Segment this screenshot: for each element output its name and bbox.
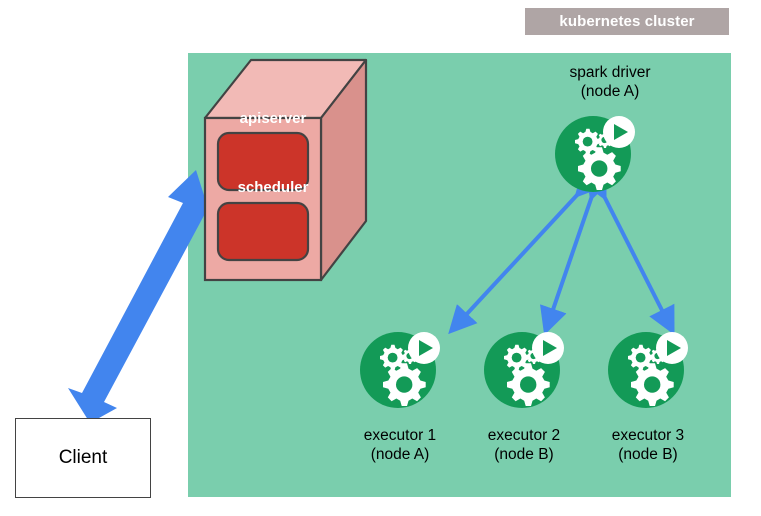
play-button-icon (532, 332, 564, 364)
gears-play-icon (482, 326, 566, 410)
executor-1-node[interactable] (358, 326, 442, 410)
control-plane-cube: apiserver scheduler (203, 58, 368, 283)
executor-3-node[interactable] (606, 326, 690, 410)
diagram-canvas: kubernetes cluster spark-submit (0, 0, 761, 516)
executor-2-node[interactable] (482, 326, 566, 410)
play-button-icon (603, 116, 635, 148)
scheduler-box (218, 203, 308, 260)
spark-driver-label: spark driver (node A) (520, 63, 700, 101)
apiserver-label: apiserver (213, 110, 333, 127)
spark-driver-node[interactable] (553, 110, 637, 194)
play-button-icon (408, 332, 440, 364)
gears-play-icon (553, 110, 637, 194)
kubernetes-cluster-label: kubernetes cluster (559, 13, 694, 30)
kubernetes-cluster-header: kubernetes cluster (525, 8, 729, 35)
executor-1-label: executor 1 (node A) (340, 426, 460, 464)
gears-play-icon (606, 326, 690, 410)
scheduler-label: scheduler (213, 179, 333, 196)
connector-client-to-apiserver (68, 170, 208, 423)
play-button-icon (656, 332, 688, 364)
spark-submit-label: spark-submit (101, 195, 173, 308)
gears-play-icon (358, 326, 442, 410)
executor-2-label: executor 2 (node B) (464, 426, 584, 464)
client-box[interactable]: Client (15, 418, 151, 498)
client-label: Client (59, 447, 108, 469)
executor-3-label: executor 3 (node B) (588, 426, 708, 464)
